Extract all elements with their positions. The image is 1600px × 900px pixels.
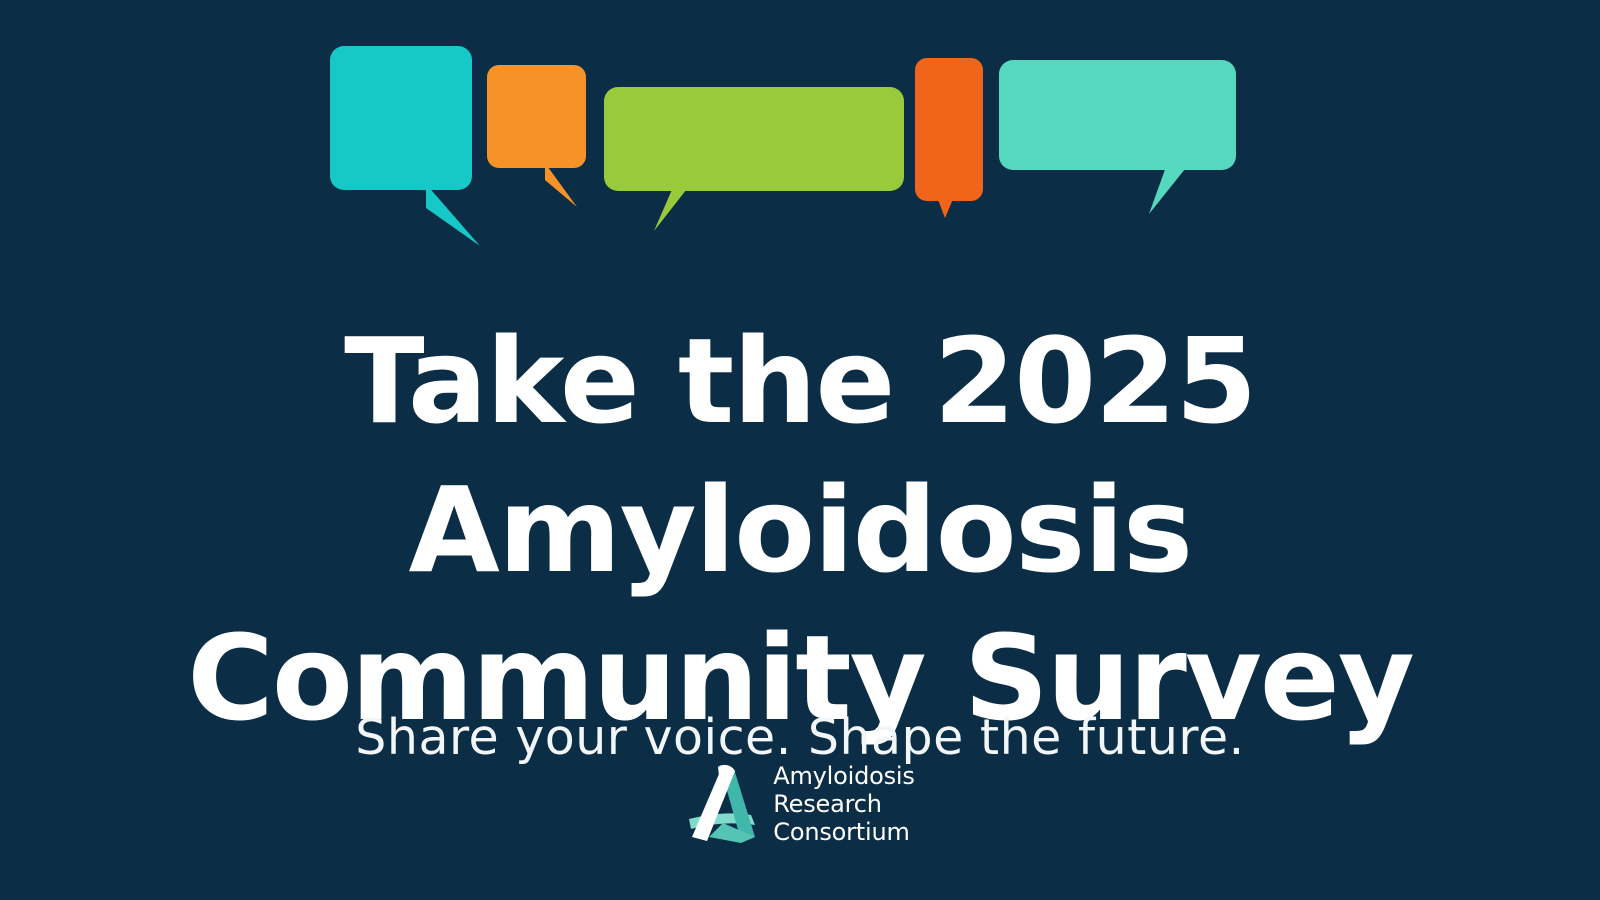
organization-logo-lockup: Amyloidosis Research Consortium bbox=[0, 762, 1600, 846]
wordmark-line-1: Amyloidosis bbox=[773, 762, 914, 790]
wordmark-line-2: Research bbox=[773, 790, 914, 818]
speech-bubble-green bbox=[604, 87, 909, 237]
speech-bubble-mint bbox=[999, 60, 1244, 220]
speech-bubble-orange bbox=[487, 65, 597, 215]
survey-promo-poster: Take the 2025 Amyloidosis Community Surv… bbox=[0, 0, 1600, 900]
arc-a-monogram-icon bbox=[685, 763, 759, 845]
speech-bubble-band bbox=[0, 0, 1600, 240]
organization-wordmark: Amyloidosis Research Consortium bbox=[773, 762, 914, 846]
wordmark-line-3: Consortium bbox=[773, 818, 914, 846]
headline-line-2: Amyloidosis bbox=[0, 456, 1600, 605]
headline-line-1: Take the 2025 bbox=[0, 307, 1600, 456]
speech-bubble-cyan bbox=[330, 46, 490, 256]
page-title: Take the 2025 Amyloidosis Community Surv… bbox=[0, 307, 1600, 753]
subtitle-tagline: Share your voice. Shape the future. bbox=[0, 709, 1600, 766]
speech-bubble-red-orange bbox=[915, 58, 995, 223]
